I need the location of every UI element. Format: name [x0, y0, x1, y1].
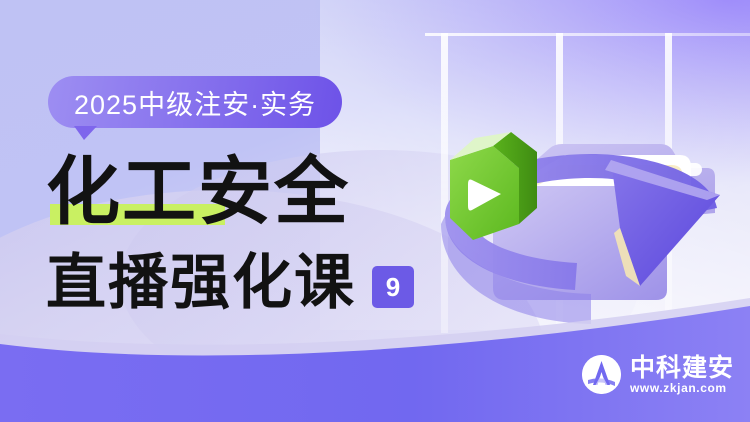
course-category-badge: 2025中级注安·实务	[48, 76, 342, 128]
headline-line-1: 化工安全	[46, 155, 350, 229]
badge-tail	[74, 126, 97, 140]
headline-row-2: 直播强化课 9	[46, 229, 414, 313]
brand-name: 中科建安	[630, 355, 734, 380]
course-banner: 2025中级注安·实务 化工安全 直播强化课 9 中科建安 www.zkjan.…	[0, 0, 750, 422]
headline-line-2: 直播强化课	[46, 253, 356, 313]
course-headline: 化工安全 直播强化课 9	[46, 155, 414, 313]
episode-number-badge: 9	[372, 266, 414, 308]
mountain-peak-icon	[582, 355, 621, 394]
brand-url: www.zkjan.com	[630, 382, 734, 394]
course-category-label: 2025中级注安·实务	[48, 76, 342, 128]
brand-logo: 中科建安 www.zkjan.com	[582, 355, 734, 394]
headline-row-1: 化工安全	[46, 155, 414, 229]
brand-logo-text: 中科建安 www.zkjan.com	[630, 355, 734, 394]
